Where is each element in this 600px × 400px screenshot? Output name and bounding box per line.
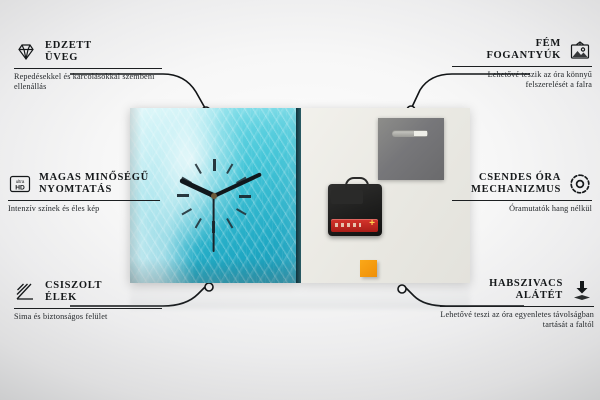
metal-hanger-plate [378, 118, 444, 180]
callout-description: Lehetővé teszi az óra egyenletes távolsá… [440, 310, 594, 331]
callout-description: Repedésekkel és karcolásokkal szembeni e… [14, 72, 162, 93]
callout-description: Lehetővé teszik az óra könnyű felszerelé… [452, 70, 592, 91]
clock-dial [130, 108, 298, 283]
callout-header: EDZETTÜVEG [14, 40, 162, 65]
callout-title: HABSZIVACSALÁTÉT [489, 278, 563, 303]
callout-description: Sima és biztonságos felület [14, 312, 162, 323]
callout-title: CSENDES ÓRAMECHANIZMUS [471, 172, 561, 197]
gear-icon [568, 172, 592, 196]
clock-mechanism [328, 184, 382, 236]
foam-pad [360, 260, 377, 277]
mechanism-hook [345, 177, 369, 189]
callout-title: CSISZOLTÉLEK [45, 280, 102, 305]
clock-center-cap [211, 193, 217, 199]
callout-header: FÉMFOGANTYÚK [452, 38, 592, 63]
callout-rule [452, 66, 592, 67]
callout-rule [440, 306, 594, 307]
foam-pad-icon [570, 278, 594, 302]
diamond-icon [14, 40, 38, 64]
callout-header: CSENDES ÓRAMECHANIZMUS [452, 172, 592, 197]
callout-rule [14, 308, 162, 309]
callout-title: EDZETTÜVEG [45, 40, 92, 65]
clock-back-panel [300, 108, 470, 283]
clock-glass-edge [296, 108, 301, 283]
clock-second-hand [213, 196, 215, 252]
product-photo [130, 108, 470, 283]
callout-polished-edges: CSISZOLTÉLEK Sima és biztonságos felület [14, 280, 162, 322]
svg-text:HD: HD [15, 185, 25, 192]
wall-mount-icon [568, 38, 592, 62]
callout-rule [452, 200, 592, 201]
mechanism-lid [331, 190, 363, 204]
infographic-canvas: EDZETTÜVEG Repedésekkel és karcolásokkal… [0, 0, 600, 400]
callout-header: CSISZOLTÉLEK [14, 280, 162, 305]
ultra-hd-icon: ultra HD [8, 172, 32, 196]
callout-silent-mechanism: CSENDES ÓRAMECHANIZMUS Óramutatók hang n… [452, 172, 592, 214]
hanger-slot [392, 130, 428, 137]
product-reflection [130, 283, 470, 309]
polished-edge-icon [14, 280, 38, 304]
callout-rule [14, 68, 162, 69]
callout-metal-handles: FÉMFOGANTYÚK Lehetővé teszik az óra könn… [452, 38, 592, 91]
callout-header: HABSZIVACSALÁTÉT [440, 278, 594, 303]
clock-front-panel [130, 108, 298, 283]
callout-tempered-glass: EDZETTÜVEG Repedésekkel és karcolásokkal… [14, 40, 162, 93]
callout-description: Óramutatók hang nélkül [452, 204, 592, 215]
battery [331, 219, 378, 232]
callout-title: FÉMFOGANTYÚK [486, 38, 561, 63]
callout-foam-pad: HABSZIVACSALÁTÉT Lehetővé teszi az óra e… [440, 278, 594, 331]
